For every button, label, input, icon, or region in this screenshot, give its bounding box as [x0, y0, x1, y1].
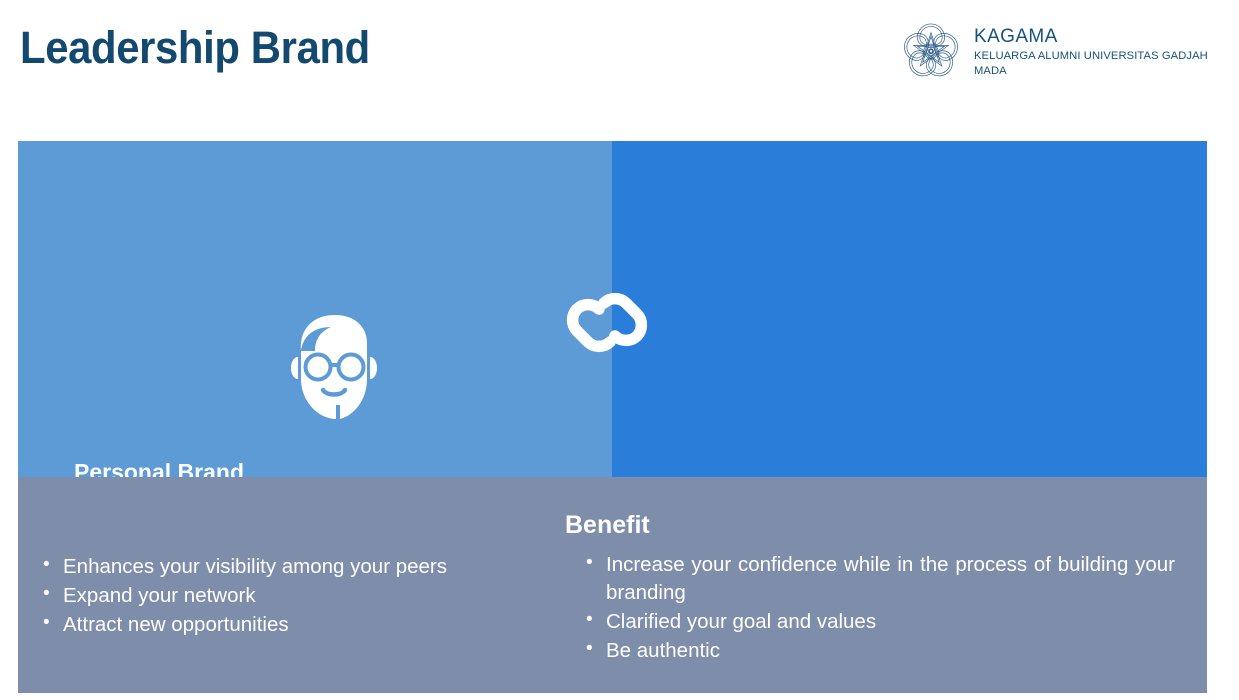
page-title: Leadership Brand — [20, 22, 370, 74]
benefit-right-bullets: Increase your confidence while in the pr… — [583, 551, 1175, 666]
panel-heading-personal-brand: Personal Brand — [74, 459, 558, 477]
logo-subtitle: KELUARGA ALUMNI UNIVERSITAS GADJAH MADA — [974, 49, 1222, 79]
benefit-title: Benefit — [565, 511, 650, 540]
list-item: Enhances your visibility among your peer… — [40, 553, 560, 581]
list-item: Clarified your goal and values — [583, 608, 1175, 636]
list-item: Be authentic — [583, 637, 1175, 665]
chain-link-icon — [566, 279, 659, 367]
benefit-left-bullets: Enhances your visibility among your peer… — [40, 553, 560, 640]
hipster-face-icon — [286, 311, 382, 421]
kagama-logo: KAGAMA KELUARGA ALUMNI UNIVERSITAS GADJA… — [900, 18, 1222, 94]
list-item: Expand your network — [40, 582, 560, 610]
personal-brand-panel: Personal Brand Reflects your priorities,… — [18, 141, 612, 477]
list-item: Increase your confidence while in the pr… — [583, 551, 1175, 607]
leadership-brand-panel: Leadership Brand How your personal brand… — [612, 141, 1207, 477]
list-item: Attract new opportunities — [40, 611, 560, 639]
ugm-flower-emblem-icon — [900, 19, 962, 81]
logo-name: KAGAMA — [974, 27, 1222, 46]
